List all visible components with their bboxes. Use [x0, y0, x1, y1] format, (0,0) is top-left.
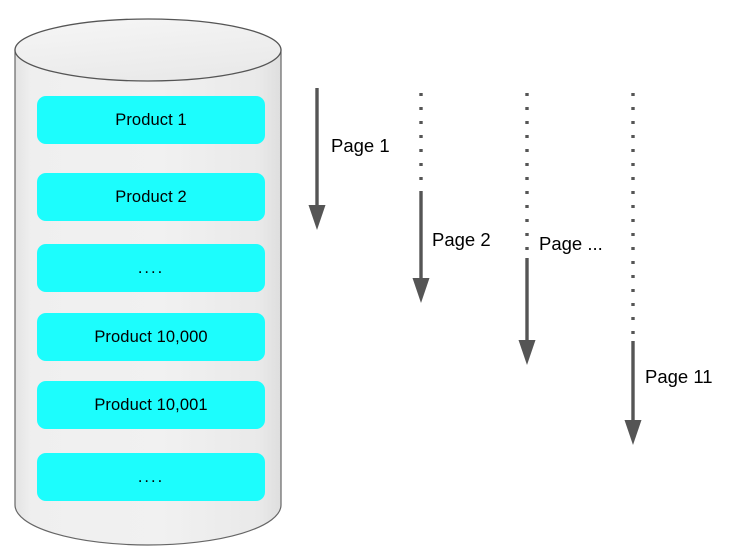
page-label-3: Page ...: [539, 235, 603, 254]
page-arrow-3: [519, 93, 536, 365]
record-label-ellipsis: ....: [138, 469, 164, 486]
page-label-4: Page 11: [645, 368, 713, 387]
record-box[interactable]: Product 10,000: [37, 313, 265, 361]
page-arrow-2: [413, 93, 430, 303]
record-label: Product 10,001: [94, 397, 207, 414]
record-label-ellipsis: ....: [138, 260, 164, 277]
page-label-1: Page 1: [331, 137, 390, 156]
page-arrow-1: [309, 88, 326, 230]
record-box[interactable]: ....: [37, 244, 265, 292]
record-box[interactable]: Product 1: [37, 96, 265, 144]
record-label: Product 2: [115, 189, 187, 206]
record-box[interactable]: Product 2: [37, 173, 265, 221]
page-arrow-4: [625, 93, 642, 445]
record-box[interactable]: Product 10,001: [37, 381, 265, 429]
record-label: Product 1: [115, 112, 187, 129]
record-label: Product 10,000: [94, 329, 207, 346]
page-label-2: Page 2: [432, 231, 491, 250]
diagram-canvas: Product 1 Product 2 .... Product 10,000 …: [0, 0, 732, 555]
cylinder-top-ellipse: [15, 19, 281, 81]
record-box[interactable]: ....: [37, 453, 265, 501]
